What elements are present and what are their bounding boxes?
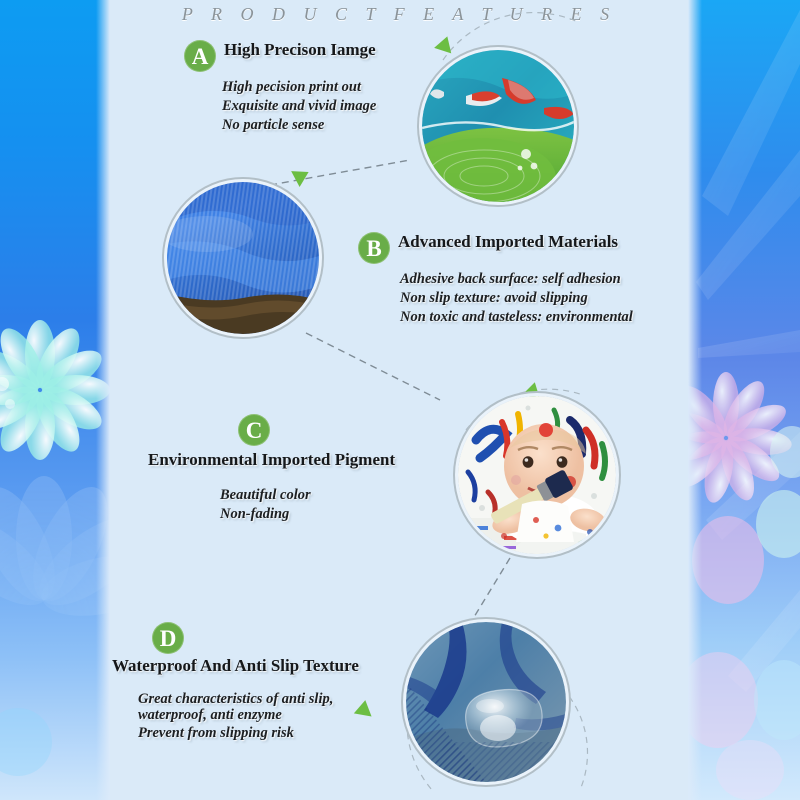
water-droplet-texture-photo <box>406 622 566 782</box>
feature-heading-b: Advanced Imported Materials <box>398 232 618 252</box>
koi-fish-lily-pad-print-photo <box>422 50 574 202</box>
dashed-line-b-to-c <box>306 333 440 400</box>
feature-line-a-3: No particle sense <box>222 116 324 135</box>
feature-photo-b <box>167 182 319 334</box>
feature-line-b-3: Non toxic and tasteless: environmental <box>400 308 633 327</box>
content-panel: P R O D U C T F E A T U R E S A High Pre… <box>110 0 688 800</box>
infographic-root: P R O D U C T F E A T U R E S A High Pre… <box>0 0 800 800</box>
baby-with-paintbrush-photo <box>458 396 616 554</box>
feature-line-b-1: Adhesive back surface: self adhesion <box>400 270 621 289</box>
feature-line-b-2: Non slip texture: avoid slipping <box>400 289 588 308</box>
feature-photo-a <box>422 50 574 202</box>
connector-lines <box>110 0 688 800</box>
left-decorative-border <box>0 0 110 800</box>
feature-line-d-2: waterproof, anti enzyme <box>138 706 282 725</box>
feature-badge-c: C <box>238 414 270 446</box>
feature-heading-a: High Precison Iamge <box>224 40 376 60</box>
feature-line-a-1: High pecision print out <box>222 78 361 97</box>
feature-line-a-2: Exquisite and vivid image <box>222 97 376 116</box>
right-decorative-border <box>688 0 800 800</box>
right-border-ornaments <box>688 0 800 800</box>
right-border-fade <box>688 0 702 800</box>
blue-ribbed-fabric-material-photo <box>167 182 319 334</box>
feature-photo-c <box>458 396 616 554</box>
feature-badge-a: A <box>184 40 216 72</box>
feature-photo-d <box>406 622 566 782</box>
green-arrow-d <box>354 699 374 717</box>
feature-line-c-1: Beautiful color <box>220 486 311 505</box>
left-border-ornaments <box>0 0 110 800</box>
feature-heading-d: Waterproof And Anti Slip Texture <box>112 656 359 676</box>
left-border-fade <box>96 0 110 800</box>
feature-badge-b: B <box>358 232 390 264</box>
feature-heading-c: Environmental Imported Pigment <box>148 450 395 470</box>
feature-line-c-2: Non-fading <box>220 505 289 524</box>
feature-badge-d: D <box>152 622 184 654</box>
feature-line-d-3: Prevent from slipping risk <box>138 724 294 743</box>
